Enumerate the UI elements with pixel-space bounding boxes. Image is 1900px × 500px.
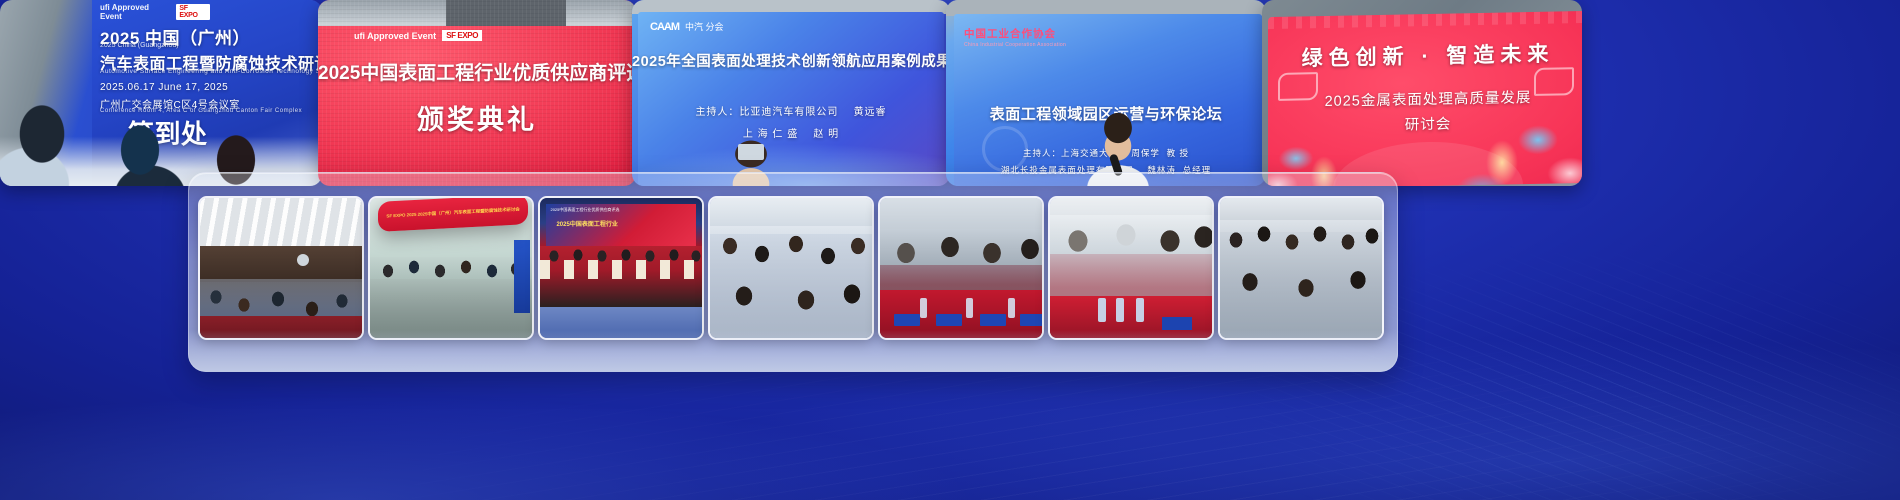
thumbnail-strip: SF EXPO 2025 2025中国（广州）汽车表面工程暨防腐蚀技术研讨会 2… bbox=[198, 196, 1388, 340]
thumbnail-audience-seating[interactable] bbox=[708, 196, 874, 340]
banner-signing-desk[interactable]: ufi Approved Event SF EXPO 2025 中国（广州） 2… bbox=[0, 0, 322, 186]
lace-border-decoration bbox=[1268, 11, 1582, 29]
name-card bbox=[894, 314, 920, 326]
roll-up-banner bbox=[514, 240, 530, 313]
host-title: 教 授 bbox=[1167, 148, 1189, 158]
photo bbox=[710, 198, 872, 338]
sfexpo-logo-icon: SF EXPO bbox=[176, 4, 210, 20]
flower-decoration-icon bbox=[1442, 103, 1582, 186]
stage-screen-line1: 2025中国表面工程行业优质供应商评选 bbox=[550, 207, 619, 213]
water-bottle bbox=[1008, 298, 1015, 318]
banner-slogan: 绿色创新 · 智造未来 bbox=[1268, 37, 1582, 73]
ceiling bbox=[200, 198, 362, 246]
photo bbox=[1050, 198, 1212, 338]
host-label: 主持人： bbox=[1023, 148, 1061, 158]
head-table bbox=[200, 316, 362, 338]
slide-host-row-1: 主持人：比亚迪汽车有限公司 黄远睿 bbox=[632, 103, 950, 118]
audience-seats bbox=[710, 226, 872, 338]
thumbnail-wide-audience[interactable] bbox=[1218, 196, 1384, 340]
group-photo-banner-text: SF EXPO 2025 2025中国（广州）汽车表面工程暨防腐蚀技术研讨会 bbox=[386, 206, 519, 220]
water-bottle bbox=[1098, 298, 1106, 322]
thumbnail-group-photo[interactable]: SF EXPO 2025 2025中国（广州）汽车表面工程暨防腐蚀技术研讨会 bbox=[368, 196, 534, 340]
name-card bbox=[936, 314, 962, 326]
stage-screen-line2: 2025中国表面工程行业 bbox=[556, 219, 617, 228]
cica-logo-en: China Industrial Cooperation Association bbox=[964, 42, 1066, 48]
photo bbox=[1220, 198, 1382, 338]
banner-logo-group: ufi Approved Event SF EXPO bbox=[354, 30, 482, 41]
water-bottle bbox=[920, 298, 927, 318]
caam-logo-icon: CAAM 中汽 分会 bbox=[650, 20, 724, 33]
water-bottle bbox=[966, 298, 973, 318]
photo bbox=[880, 198, 1042, 338]
thumbnail-award-stage[interactable]: 2025中国表面工程行业优质供应商评选 2025中国表面工程行业 bbox=[538, 196, 704, 340]
cica-logo-icon: 中国工业合作协会 China Industrial Cooperation As… bbox=[964, 26, 1066, 48]
sfexpo-logo-icon: SF EXPO bbox=[442, 30, 482, 41]
attendees-photo bbox=[0, 68, 322, 186]
phone-icon bbox=[738, 144, 764, 160]
gear-icon bbox=[982, 126, 1028, 172]
banner-park-forum[interactable]: 中国工业合作协会 China Industrial Cooperation As… bbox=[946, 0, 1266, 186]
ufi-logo-icon: ufi Approved Event bbox=[354, 31, 436, 41]
banner-title-en: 2025 China (Guangzhou) bbox=[0, 42, 322, 49]
name-card bbox=[1162, 317, 1192, 330]
group-rows bbox=[370, 257, 532, 338]
thumbnail-conference-room[interactable] bbox=[198, 196, 364, 340]
photo: 2025中国表面工程行业优质供应商评选 2025中国表面工程行业 bbox=[540, 198, 702, 338]
water-bottle bbox=[1136, 298, 1144, 322]
water-bottle bbox=[1116, 298, 1124, 322]
banner-logo-group: ufi Approved Event SF EXPO bbox=[100, 4, 210, 20]
cloud-motif-icon bbox=[1278, 72, 1318, 101]
caam-label: 中汽 分会 bbox=[685, 20, 724, 33]
collage-stage: ufi Approved Event SF EXPO 2025 中国（广州） 2… bbox=[0, 0, 1900, 500]
photo bbox=[200, 198, 362, 338]
thumbnail-guests-discussion[interactable] bbox=[1048, 196, 1214, 340]
cloud-motif-icon bbox=[1534, 67, 1574, 96]
guests bbox=[1050, 215, 1212, 302]
stage-floor bbox=[540, 307, 702, 338]
name-card bbox=[980, 314, 1006, 326]
slide-title: 2025年全国表面处理技术创新领航应用案例成果发布会 bbox=[632, 50, 950, 71]
wall bbox=[200, 246, 362, 282]
host-org: 比亚迪汽车有限公司 bbox=[739, 107, 838, 118]
banner-green-innovation[interactable]: 绿色创新 · 智造未来 2025金属表面处理高质量发展 研讨会 bbox=[1262, 0, 1582, 186]
banner-row: ufi Approved Event SF EXPO 2025 中国（广州） 2… bbox=[0, 0, 1900, 192]
host-name: 黄远睿 bbox=[854, 107, 887, 118]
led-board: 绿色创新 · 智造未来 2025金属表面处理高质量发展 研讨会 bbox=[1268, 11, 1582, 186]
stage-screen: 2025中国表面工程行业优质供应商评选 2025中国表面工程行业 bbox=[546, 204, 695, 246]
host-label: 主持人： bbox=[695, 107, 739, 118]
thumbnail-seated-guests[interactable] bbox=[878, 196, 1044, 340]
photo: SF EXPO 2025 2025中国（广州）汽车表面工程暨防腐蚀技术研讨会 bbox=[370, 198, 532, 338]
banner-award-ceremony[interactable]: ufi Approved Event SF EXPO 2025中国表面工程行业优… bbox=[318, 0, 636, 186]
led-texture bbox=[318, 0, 636, 186]
caam-mark: CAAM bbox=[650, 21, 679, 33]
name-card bbox=[1020, 314, 1044, 326]
banner-line2: 颁奖典礼 bbox=[318, 98, 636, 137]
cica-logo-cn: 中国工业合作协会 bbox=[964, 26, 1066, 41]
ufi-logo-icon: ufi Approved Event bbox=[100, 3, 171, 21]
certificates bbox=[540, 260, 702, 280]
banner-results-release[interactable]: CAAM 中汽 分会 2025年全国表面处理技术创新领航应用案例成果发布会 主持… bbox=[632, 0, 950, 186]
audience bbox=[1220, 220, 1382, 338]
banner-line1: 2025中国表面工程行业优质供应商评选 bbox=[318, 58, 636, 85]
